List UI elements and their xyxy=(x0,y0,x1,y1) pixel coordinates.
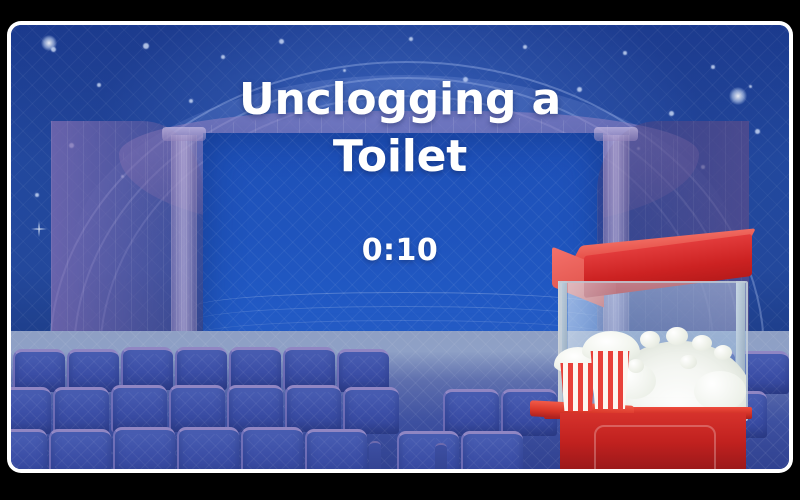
title-line-1: Unclogging a xyxy=(11,71,789,128)
title-line-2: Toilet xyxy=(11,128,789,185)
seat xyxy=(169,385,225,432)
seat xyxy=(397,431,459,469)
seat-armrest xyxy=(435,443,447,469)
popcorn-kernel xyxy=(692,335,712,351)
seat xyxy=(49,429,111,469)
thumbnail-frame: Unclogging a Toilet 0:10 xyxy=(7,21,793,473)
seat xyxy=(241,427,303,469)
seat xyxy=(283,347,335,390)
seat xyxy=(343,387,399,434)
seat xyxy=(305,429,367,469)
seat xyxy=(175,347,227,390)
popcorn-kernel xyxy=(680,355,697,369)
seat xyxy=(461,431,523,469)
seat xyxy=(285,385,341,432)
seat xyxy=(13,349,65,392)
seat xyxy=(11,387,51,434)
seat xyxy=(177,427,239,469)
seat xyxy=(113,427,175,469)
seat xyxy=(53,387,109,434)
page-title: Unclogging a Toilet xyxy=(11,71,789,185)
popcorn-box xyxy=(588,351,632,409)
seat xyxy=(337,349,389,392)
seat-armrest xyxy=(369,441,381,469)
popcorn-machine-panel xyxy=(594,425,716,469)
popcorn-kernel xyxy=(714,345,732,360)
popcorn-kernel xyxy=(640,331,660,348)
seat xyxy=(121,347,173,390)
video-thumbnail-screen: Unclogging a Toilet 0:10 xyxy=(0,0,800,500)
seat xyxy=(67,349,119,392)
seat xyxy=(443,389,499,436)
seat xyxy=(111,385,167,432)
seat xyxy=(11,429,47,469)
popcorn-kernel xyxy=(666,327,688,345)
seat xyxy=(229,347,281,390)
seat xyxy=(227,385,283,432)
popcorn-machine xyxy=(544,231,752,469)
popcorn-box xyxy=(558,363,598,411)
popcorn-kernel xyxy=(628,359,644,373)
popcorn-machine-body xyxy=(560,413,746,469)
thumbnail-inner: Unclogging a Toilet 0:10 xyxy=(11,25,789,469)
